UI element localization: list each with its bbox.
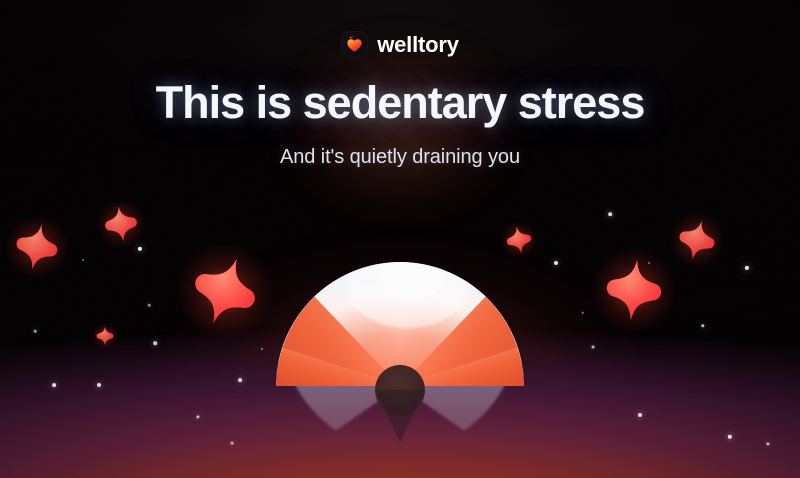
page-title: This is sedentary stress: [0, 79, 800, 127]
brand-lockup: welltory: [0, 31, 800, 58]
promo-card: welltory This is sedentary stress And it…: [0, 0, 800, 478]
gauge-hub-stem: [375, 390, 425, 442]
page-subtitle: And it's quietly draining you: [0, 146, 800, 169]
sedentary-stress-gauge: [270, 232, 530, 442]
welltory-heart-logo-icon: [341, 31, 368, 58]
brand-name: welltory: [377, 34, 459, 56]
gauge-svg: [270, 232, 530, 442]
